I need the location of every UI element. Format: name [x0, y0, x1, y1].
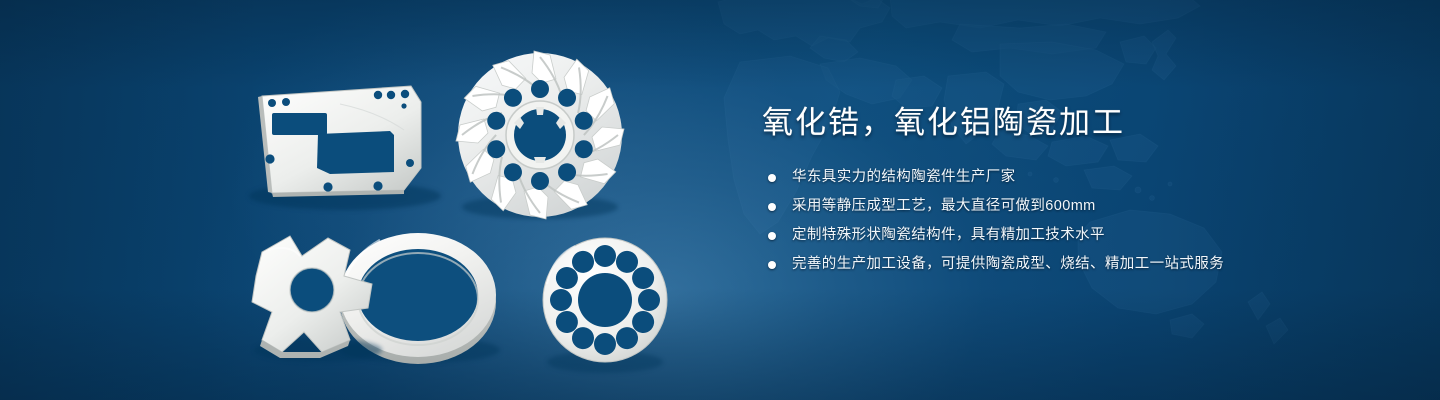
feature-item: 华东具实力的结构陶瓷件生产厂家 — [768, 167, 1382, 188]
banner-headline: 氧化锆，氧化铝陶瓷加工 — [762, 104, 1382, 141]
bullet-dot-icon — [768, 203, 776, 211]
ceramic-plate — [249, 86, 441, 210]
feature-item: 定制特殊形状陶瓷结构件，具有精加工技术水平 — [768, 225, 1382, 246]
bullet-dot-icon — [768, 232, 776, 240]
banner-copy: 氧化锆，氧化铝陶瓷加工 华东具实力的结构陶瓷件生产厂家 采用等静压成型工艺，最大… — [762, 104, 1382, 283]
hero-banner: 氧化锆，氧化铝陶瓷加工 华东具实力的结构陶瓷件生产厂家 采用等静压成型工艺，最大… — [0, 0, 1440, 400]
feature-item-label: 采用等静压成型工艺，最大直径可做到600mm — [792, 198, 1096, 214]
feature-item-label: 华东具实力的结构陶瓷件生产厂家 — [792, 169, 1016, 185]
ceramic-impeller — [456, 51, 624, 219]
feature-list: 华东具实力的结构陶瓷件生产厂家 采用等静压成型工艺，最大直径可做到600mm 定… — [768, 167, 1382, 275]
bullet-dot-icon — [768, 261, 776, 269]
feature-item: 采用等静压成型工艺，最大直径可做到600mm — [768, 196, 1382, 217]
ceramic-perforated-disc — [543, 238, 667, 373]
bullet-dot-icon — [768, 174, 776, 182]
feature-item: 完善的生产加工设备，可提供陶瓷成型、烧结、精加工一站式服务 — [768, 254, 1382, 275]
product-photo-group — [0, 0, 740, 400]
feature-item-label: 完善的生产加工设备，可提供陶瓷成型、烧结、精加工一站式服务 — [792, 256, 1224, 272]
feature-item-label: 定制特殊形状陶瓷结构件，具有精加工技术水平 — [792, 227, 1105, 243]
